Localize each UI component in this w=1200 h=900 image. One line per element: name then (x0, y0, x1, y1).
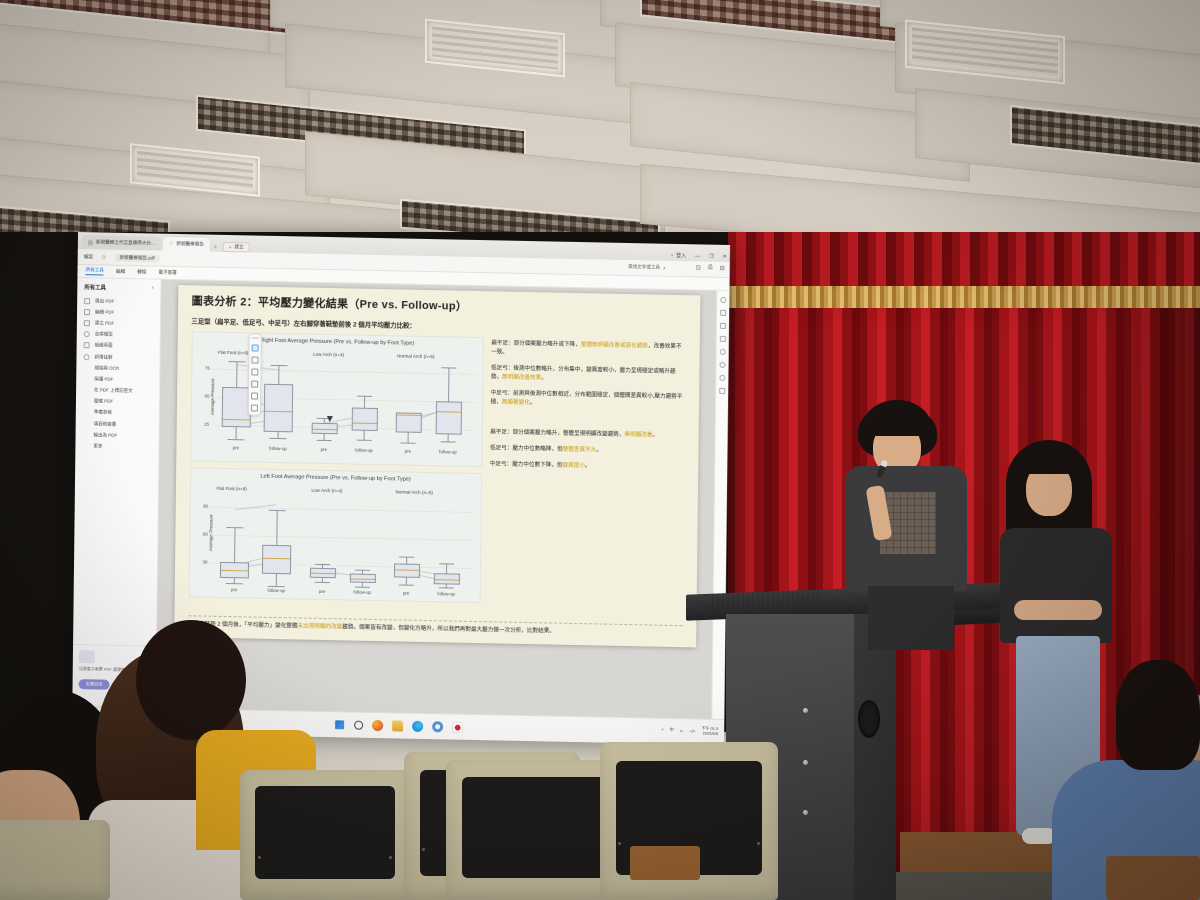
median-line (436, 411, 460, 413)
note-mid-arch-left: 中足弓：壓力中位數下降，但變異度小。 (490, 460, 684, 473)
ceiling (0, 0, 1200, 238)
open-document-tab[interactable]: 新貌醫療報告.pdf (114, 253, 159, 262)
note-low-arch-right: 低足弓：後測中位數略升，分布集中，變異度較小，壓力呈現穩定或略升趨勢，無明顯改善… (491, 364, 685, 386)
x-tick-followup: follow-up (439, 449, 457, 454)
box-low-arch-followup (349, 573, 375, 583)
highlight-pen-icon[interactable] (251, 369, 258, 376)
tool-label: 建立 PDF (95, 320, 114, 326)
whisker-cap (441, 367, 456, 368)
text-box-icon[interactable] (251, 393, 258, 400)
tool-label: 準備表格 (94, 410, 112, 416)
y-tick-60: 60 (203, 531, 208, 536)
median-line (434, 579, 458, 581)
create-icon (84, 320, 90, 326)
box-flat-foot-followup (263, 384, 293, 433)
drag-handle-icon[interactable] (252, 338, 259, 339)
free-trial-button[interactable]: 免費試用 (79, 679, 110, 690)
sign-in-button[interactable]: ◔ 登入 (670, 252, 686, 259)
ime-indicator[interactable]: 中 (669, 727, 673, 733)
x-tick-pre: pre (319, 589, 325, 594)
merge-icon (84, 331, 90, 337)
add-comment-icon[interactable] (251, 357, 258, 364)
browser-tab-0[interactable]: 新貌醫療之代言直播帶大分... (82, 235, 161, 251)
tool-label: 掃描與 OCR (94, 365, 119, 371)
box-normal-arch-followup (435, 401, 461, 435)
y-tick-75: 75 (205, 365, 210, 370)
curtain-fringe (728, 286, 1200, 308)
browser-tab-label: 新貌醫療報告 (176, 241, 204, 248)
whisker-cap (269, 438, 286, 439)
maximize-button[interactable]: ❐ (709, 253, 714, 259)
edit-icon (84, 309, 90, 315)
x-tick-pre: pre (321, 447, 327, 452)
chart-left-foot: Left Foot Average Pressure (Pre vs. Foll… (188, 467, 482, 603)
chart-title: Right Foot Average Pressure (Pre vs. Fol… (192, 336, 482, 348)
whisker-cap (227, 439, 244, 440)
whisker-cap (356, 439, 371, 440)
audience-hair-right (1116, 660, 1200, 770)
tool-label: 編輯 PDF (95, 309, 114, 315)
box-normal-arch-pre (395, 412, 421, 433)
tool-label: 填寫和簽署 (94, 421, 117, 427)
x-tick-followup: follow-up (353, 589, 371, 594)
tool-label: 更多 (93, 443, 102, 449)
box-flat-foot-pre (221, 387, 250, 428)
median-line (396, 414, 420, 416)
wooden-step (630, 846, 700, 880)
close-window-button[interactable]: ✕ (723, 253, 727, 259)
edge-icon[interactable] (412, 721, 423, 732)
tool-label: 新增註解 (94, 354, 112, 360)
charts-column: Right Foot Average Pressure (Pre vs. Fol… (188, 331, 483, 609)
menu-bar-label: 檔案 (84, 254, 93, 260)
screenshot-root: 新貌醫療之代言直播帶大分... ☆ 新貌醫療報告 × + 建立 ◔ 登入 — ❐… (0, 0, 1200, 900)
whisker-cap (398, 584, 413, 585)
whisker-cap (399, 556, 414, 557)
y-tick-30: 30 (203, 559, 208, 564)
draw-icon[interactable] (251, 381, 258, 388)
search-box[interactable]: 尋找文字或工具 ⌕ (628, 264, 666, 271)
select-cursor-icon[interactable] (252, 345, 259, 352)
whisker-cap (438, 587, 453, 588)
search-placeholder: 尋找文字或工具 (628, 264, 660, 271)
x-tick-pre: pre (233, 445, 239, 450)
y-tick-90: 90 (203, 503, 208, 508)
median-line (352, 422, 376, 424)
window-controls: ◔ 登入 — ❐ ✕ (670, 252, 727, 260)
group-label-normal-arch: Normal Arch (n=5) (395, 489, 432, 495)
slide-footer-summary: 足在穿鞋墊 2 個月後，「平均壓力」變化整體未出現明顯的改變趨勢。個案皆有改變，… (188, 615, 682, 639)
chrome-icon[interactable] (432, 721, 443, 732)
box-flat-foot-followup (261, 545, 290, 575)
x-tick-followup: follow-up (437, 591, 455, 596)
comment-icon[interactable] (720, 297, 726, 303)
y-tick-50: 50 (205, 393, 210, 398)
browser-tab-label: 新貌醫療之代言直播帶大分... (96, 239, 155, 246)
tool-label: 壓縮 PDF (94, 399, 113, 405)
whisker-cap (439, 563, 454, 564)
new-tab-label: 建立 (234, 244, 243, 250)
median-line (264, 411, 291, 413)
chair-seat-back (462, 777, 610, 878)
menu-item-all-tools[interactable]: 所有工具 (85, 267, 103, 275)
plus-icon: + (229, 245, 232, 250)
chair-seat-back (255, 786, 394, 880)
attachment-icon[interactable] (720, 323, 726, 329)
whisker-cap (357, 395, 372, 396)
zoom-in-icon[interactable] (720, 362, 726, 368)
whisker-cap (355, 569, 370, 570)
chair (240, 770, 410, 900)
fringe-hair (868, 416, 926, 436)
x-tick-followup: follow-up (355, 447, 373, 452)
chevron-down-icon[interactable] (720, 336, 726, 342)
stamp-icon[interactable] (251, 405, 258, 412)
tool-item-more[interactable]: 更多 (75, 440, 158, 453)
question-circle-icon: ◔ (670, 252, 673, 258)
box-low-arch-followup (351, 407, 377, 431)
menu-item-esign[interactable]: 電子簽署 (158, 270, 176, 276)
chart-title: Left Foot Average Pressure (Pre vs. Foll… (191, 472, 481, 484)
box-normal-arch-followup (433, 573, 459, 585)
promo-thumbnail-icon (79, 650, 95, 663)
home-icon[interactable]: ⌂ (102, 254, 106, 260)
median-line (263, 558, 290, 560)
x-tick-followup: follow-up (269, 446, 287, 451)
median-line (310, 572, 334, 574)
chair (446, 760, 626, 900)
comment-icon (83, 354, 89, 360)
whisker-cap (225, 583, 242, 584)
group-label-low-arch: Low Arch (n=4) (311, 487, 342, 493)
whisker-cap (314, 582, 329, 583)
legs (868, 586, 954, 650)
fit-page-icon[interactable] (719, 388, 725, 394)
acrobat-icon[interactable] (452, 722, 463, 733)
chart-right-foot: Right Foot Average Pressure (Pre vs. Fol… (190, 331, 484, 467)
podium-knob (803, 760, 808, 765)
tool-label: 輸出為 PDF (94, 432, 118, 438)
x-tick-pre: pre (405, 448, 411, 453)
median-line (220, 570, 247, 572)
y-axis-label: Average Pressure (208, 514, 213, 551)
minimize-button[interactable]: — (695, 253, 700, 259)
x-tick-followup: follow-up (267, 588, 285, 593)
tool-label: 組織頁面 (95, 343, 113, 349)
tool-label: 合併檔案 (95, 332, 113, 338)
floating-annotation-toolbar[interactable] (248, 333, 262, 415)
sign-in-label: 登入 (676, 252, 686, 259)
tool-label: 保護 PDF (94, 376, 113, 382)
whisker-cap (268, 510, 285, 511)
whisker-cap (400, 442, 415, 443)
x-tick-pre: pre (403, 590, 409, 595)
mouse-pointer-icon (326, 416, 332, 422)
new-tab-button[interactable]: + 建立 (223, 242, 250, 253)
tools-panel-title: 所有工具 (84, 283, 106, 291)
group-label-normal-arch: Normal Arch (n=5) (397, 353, 434, 359)
x-tick-pre: pre (231, 587, 237, 592)
browser-tab-1[interactable]: ☆ 新貌醫療報告 (163, 237, 210, 252)
median-line (222, 419, 249, 421)
median-line (350, 578, 374, 580)
box-low-arch-pre (311, 422, 337, 434)
whisker-cap (267, 586, 284, 587)
chair (0, 820, 110, 900)
file-explorer-icon[interactable] (392, 720, 403, 731)
median-line (395, 569, 419, 571)
whisker-cap (440, 441, 455, 442)
search-icon[interactable]: ⌕ (663, 265, 666, 270)
comment-icon[interactable]: ⊟ (720, 265, 725, 272)
page-icon (88, 240, 93, 245)
close-icon[interactable]: × (151, 285, 154, 291)
header-action-icons: ⊡ ⎙ ⊟ (696, 264, 725, 272)
organize-icon (84, 342, 90, 348)
folded-arms (1014, 600, 1102, 620)
network-icon[interactable]: ▭ (680, 728, 684, 733)
wooden-armrest (1106, 856, 1200, 900)
menu-item-convert[interactable]: 轉換 (137, 269, 146, 275)
group-label-flat-foot: Flat Foot (n=8) (218, 350, 248, 356)
box-flat-foot-pre (219, 562, 248, 579)
tab-close-icon[interactable]: × (214, 245, 217, 251)
presenter-speaker (840, 400, 990, 650)
zoom-out-icon[interactable] (719, 375, 725, 381)
whisker-cap (228, 361, 245, 362)
firefox-icon[interactable] (372, 720, 383, 731)
tool-label: 匯出 PDF (95, 298, 114, 304)
group-label-flat-foot: Flat Foot (n=8) (216, 486, 246, 492)
note-low-arch-left: 低足弓：壓力中位數略降，但整體差異不大。 (490, 444, 684, 457)
whisker-cap (270, 365, 287, 366)
menu-item-edit[interactable]: 編輯 (116, 269, 125, 275)
torso-tshirt (1000, 528, 1112, 643)
note-mid-arch-right: 中足弓：前測與後測中位數相近，分布範圍穩定，個體間差異較小,壓力趨勢平穩，無顯著… (490, 389, 684, 411)
whisker-cap (354, 586, 369, 587)
search-icon[interactable] (354, 721, 363, 730)
y-tick-25: 25 (204, 421, 209, 426)
tool-label: 在 PDF 上標記密文 (94, 387, 133, 394)
share-icon[interactable]: ⊡ (696, 264, 701, 271)
podium-knob (803, 708, 808, 713)
windows-start-icon[interactable] (334, 719, 345, 730)
median-line (312, 428, 336, 430)
podium-knob (803, 810, 808, 815)
note-flat-foot-right: 扁平足：部分個案壓力略升或下降，整體無明顯改善或惡化趨勢，改善效果不一致。 (491, 339, 685, 361)
rotate-icon[interactable] (720, 349, 726, 355)
curtain-valance (728, 232, 1200, 292)
audience-head (136, 620, 246, 740)
group-label-low-arch: Low Arch (n=4) (313, 351, 344, 357)
export-icon (84, 298, 90, 304)
shoe (1022, 828, 1056, 844)
notes-column: 扁平足：部分個案壓力略升或下降，整體無明顯改善或惡化趨勢，改善效果不一致。 低足… (488, 337, 685, 613)
box-normal-arch-pre (393, 563, 419, 578)
star-icon: ☆ (169, 241, 174, 247)
box-low-arch-pre (309, 567, 335, 578)
whisker-cap (226, 527, 243, 528)
podium-speaker-vent (858, 700, 880, 738)
bookmark-icon[interactable] (720, 310, 726, 316)
chevron-up-icon[interactable]: ^ (662, 728, 664, 733)
whisker-cap (316, 440, 331, 441)
slide-title: 圖表分析 2：平均壓力變化結果（Pre vs. Follow-up） (192, 295, 686, 319)
fringe-hair (1020, 454, 1078, 474)
print-icon[interactable]: ⎙ (708, 265, 713, 272)
